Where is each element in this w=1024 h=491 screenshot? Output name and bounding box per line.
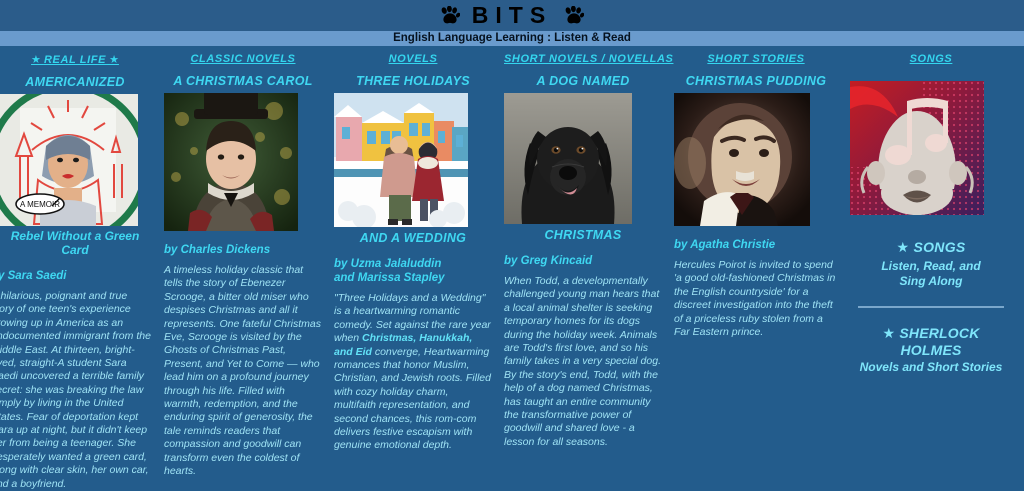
book-columns: ★ REAL LIFE ★ AMERICANIZED — [0, 46, 1024, 444]
book-cover-a-dog-named-christmas[interactable] — [504, 93, 662, 224]
book-author-a-dog-named-christmas: by Greg Kincaid — [504, 254, 662, 268]
book-author-americanized: by Sara Saedi — [0, 269, 152, 283]
tagline-part: L — [438, 32, 445, 44]
column-novels: NOVELS THREE HOLIDAYS — [328, 46, 498, 444]
tagline-bar: English Language Learning : Listen & Rea… — [0, 31, 1024, 46]
songs-info-block: ★ SONGS Listen, Read, and Sing Along — [850, 239, 1012, 289]
book-author-christmas-carol: by Charles Dickens — [164, 243, 322, 257]
tagline-part: ead — [611, 32, 631, 44]
brand-logo: BITS — [440, 2, 584, 29]
book-cover-americanized[interactable]: A MEMOIR — [0, 94, 152, 226]
column-short-novels: SHORT NOVELS / NOVELLAS A DOG NAMED — [498, 46, 668, 444]
book-cover-three-holidays[interactable] — [334, 93, 492, 227]
masthead: BITS — [0, 0, 1024, 31]
category-label-short-stories[interactable]: SHORT STORIES — [674, 53, 838, 65]
brand-title: BITS — [472, 2, 552, 29]
book-cover-christmas-carol[interactable] — [164, 93, 322, 231]
column-short-stories: SHORT STORIES CHRISTMAS PUDDING — [668, 46, 844, 444]
book-blurb-christmas-pudding: Hercules Poirot is invited to spend 'a g… — [674, 259, 838, 339]
category-text: REAL LIFE — [44, 54, 106, 66]
songs-subtext-line-2: Sing Along — [850, 274, 1012, 289]
sherlock-holmes-subtext: Novels and Short Stories — [850, 360, 1012, 374]
tagline-text: English Language Learning : Listen & Rea… — [393, 31, 631, 46]
column-real-life: ★ REAL LIFE ★ AMERICANIZED — [0, 46, 158, 444]
paw-print-icon-left — [440, 6, 460, 25]
songs-heading[interactable]: ★ SONGS — [850, 239, 1012, 256]
tagline-part: nglish — [401, 32, 438, 44]
author-line-2: and Marissa Stapley — [334, 271, 492, 285]
category-label-short-novels[interactable]: SHORT NOVELS / NOVELLAS — [504, 53, 662, 65]
category-label-real-life[interactable]: ★ REAL LIFE ★ — [0, 53, 152, 66]
book-title-and-a-wedding: AND A WEDDING — [334, 231, 492, 245]
book-title-a-dog-named: A DOG NAMED — [504, 74, 662, 88]
book-author-christmas-pudding: by Agatha Christie — [674, 238, 838, 252]
book-title-three-holidays: THREE HOLIDAYS — [334, 74, 492, 88]
book-title-christmas-carol: A CHRISTMAS CAROL — [164, 74, 322, 88]
songs-subtext-line-1: Listen, Read, and — [850, 259, 1012, 274]
tagline-part: isten & — [561, 32, 603, 44]
book-title-christmas: CHRISTMAS — [504, 228, 662, 242]
book-blurb-americanized: A hilarious, poignant and true story of … — [0, 290, 152, 491]
tagline-part: R — [603, 32, 611, 44]
blurb-part-post: converge, Heartwarming romances that hon… — [334, 346, 491, 452]
tagline-part: anguage — [445, 32, 495, 44]
column-songs: SONGS — [844, 46, 1018, 444]
category-label-classic-novels[interactable]: CLASSIC NOVELS — [164, 53, 322, 65]
sherlock-holmes-heading[interactable]: ★ SHERLOCK HOLMES — [850, 325, 1012, 358]
category-label-novels[interactable]: NOVELS — [334, 53, 492, 65]
book-author-three-holidays: by Uzma Jalaluddin and Marissa Stapley — [334, 257, 492, 285]
bits-reading-page: BITS English Language Learning : Listen … — [0, 0, 1024, 444]
book-title-christmas-pudding: CHRISTMAS PUDDING — [674, 74, 838, 88]
book-subtitle-americanized: Rebel Without a Green Card — [0, 229, 152, 257]
tagline-part: earning : — [502, 32, 554, 44]
songs-subtext: Listen, Read, and Sing Along — [850, 259, 1012, 289]
section-divider — [858, 306, 1004, 308]
column-classic-novels: CLASSIC NOVELS A CHRISTMAS CAROL — [158, 46, 328, 444]
author-line-1: by Uzma Jalaluddin — [334, 257, 492, 271]
book-blurb-christmas-carol: A timeless holiday classic that tells th… — [164, 264, 322, 479]
book-cover-christmas-pudding[interactable] — [674, 93, 838, 226]
star-icon: ★ — [31, 54, 44, 66]
paw-print-icon-right — [564, 6, 584, 25]
category-label-songs[interactable]: SONGS — [850, 53, 1012, 65]
tagline-part: E — [393, 32, 401, 44]
songs-poster-image[interactable] — [850, 81, 1012, 215]
star-icon: ★ — [106, 54, 119, 66]
book-blurb-a-dog-named-christmas: When Todd, a developmentally challenged … — [504, 275, 662, 449]
book-blurb-three-holidays: "Three Holidays and a Wedding" is a hear… — [334, 292, 492, 453]
book-title-americanized: AMERICANIZED — [0, 75, 152, 89]
